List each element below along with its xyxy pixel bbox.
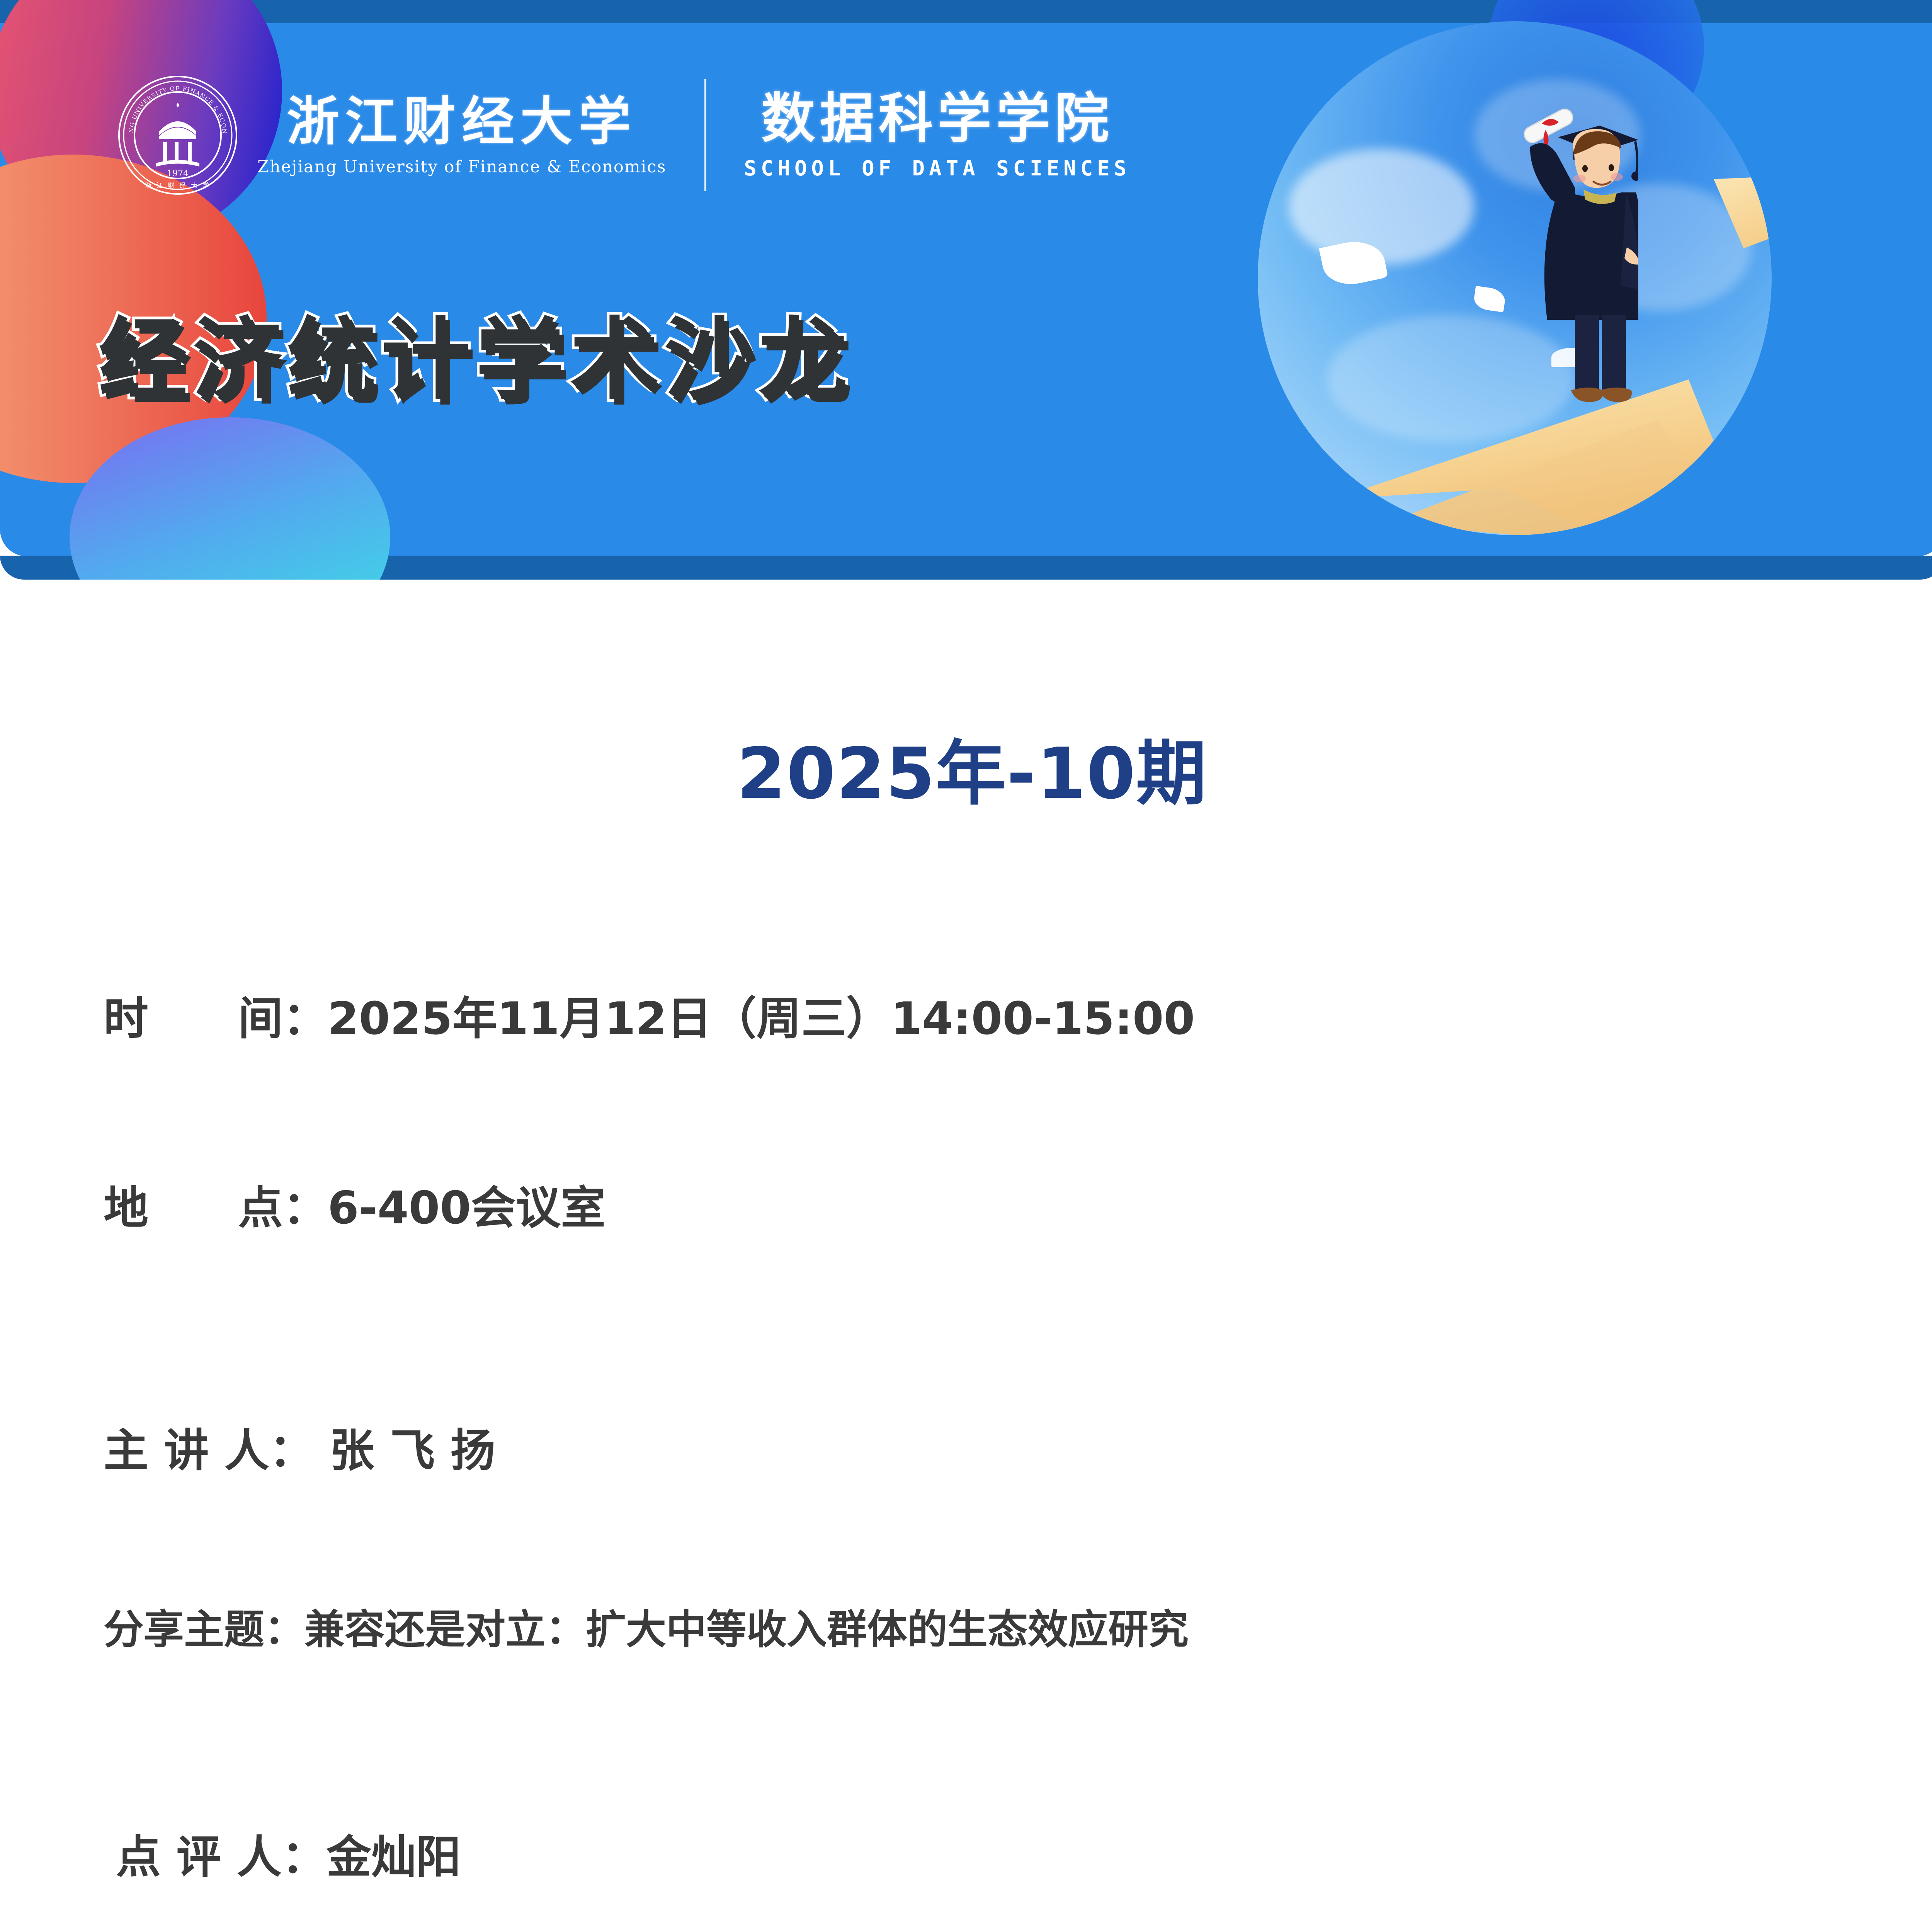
school-name-en: SCHOOL OF DATA SCIENCES	[744, 156, 1131, 180]
university-logo-lockup: ZHEJIANG UNIVERSITY OF FINANCE & ECONOMI…	[116, 73, 1131, 197]
poster-title: 经济统计学术沙龙	[99, 288, 853, 417]
school-name-cn: 数据科学学院	[761, 90, 1114, 147]
graduate-student-figure	[1484, 97, 1638, 460]
logo-divider	[704, 79, 706, 191]
university-name-en: Zhejiang University of Finance & Economi…	[257, 157, 667, 177]
info-row-time: 时 间：2025年11月12日（周三）14:00-15:00	[104, 982, 1195, 1047]
info-row-place: 地 点：6-400会议室	[104, 1172, 605, 1236]
university-seal-icon: ZHEJIANG UNIVERSITY OF FINANCE & ECONOMI…	[116, 73, 240, 197]
svg-text:1974: 1974	[167, 169, 189, 179]
poster-body: 2025年-10期 时 间：2025年11月12日（周三）14:00-15:00…	[0, 580, 1932, 818]
poster-header: ZHEJIANG UNIVERSITY OF FINANCE & ECONOMI…	[0, 0, 1932, 580]
info-row-topic: 分享主题：兼容还是对立：扩大中等收入群体的生态效应研究	[104, 1597, 1189, 1655]
issue-title: 2025年-10期	[0, 580, 1932, 818]
graduation-illustration	[1258, 21, 1772, 535]
school-name-block: 数据科学学院 SCHOOL OF DATA SCIENCES	[744, 90, 1131, 180]
cloud-shape	[1289, 149, 1474, 265]
university-name-cn: 浙江财经大学	[287, 94, 637, 149]
university-name-block: 浙江财经大学 Zhejiang University of Finance & …	[257, 94, 667, 177]
svg-text:浙 江 财 经 大 学: 浙 江 财 经 大 学	[145, 182, 211, 189]
info-row-commenter: 点 评 人：金灿阳	[116, 1821, 461, 1886]
info-row-speaker: 主 讲 人： 张 飞 扬	[104, 1414, 495, 1479]
